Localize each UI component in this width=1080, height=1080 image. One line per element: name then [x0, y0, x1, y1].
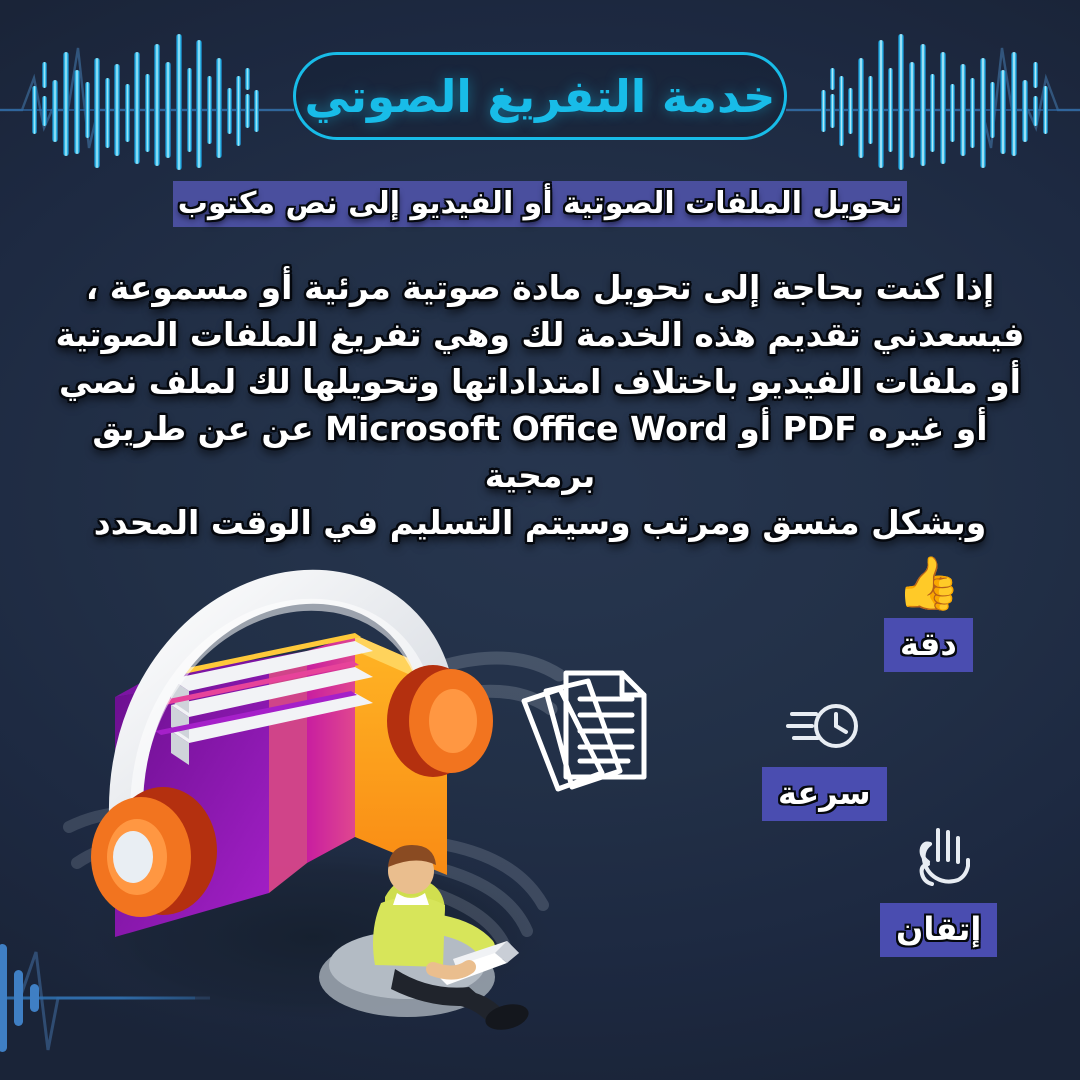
subtitle-banner: تحويل الملفات الصوتية أو الفيديو إلى نص …: [173, 181, 907, 227]
format-word-label: Microsoft Office Word: [325, 409, 728, 448]
feature-speed: سرعة: [762, 700, 887, 821]
audio-waveform-icon: [786, 18, 1080, 188]
body-line-4-part-b: أو: [728, 409, 783, 448]
body-paragraph: إذا كنت بحاجة إلى تحويل مادة صوتية مرئية…: [50, 264, 1030, 546]
feature-accuracy: 👍 دقة: [884, 558, 973, 672]
feature-speed-label: سرعة: [762, 767, 887, 821]
audio-waveform-icon: [0, 18, 294, 188]
subtitle-text: تحويل الملفات الصوتية أو الفيديو إلى نص …: [178, 189, 902, 219]
body-line-4: أو غيره PDF أو Microsoft Office Word عن …: [50, 405, 1030, 499]
body-line-3: أو ملفات الفيديو باختلاف امتداداتها وتحو…: [50, 358, 1030, 405]
documents-stack-icon: [510, 655, 660, 819]
body-line-1: إذا كنت بحاجة إلى تحويل مادة صوتية مرئية…: [50, 264, 1030, 311]
title-pill: خدمة التفريغ الصوتي: [293, 52, 787, 140]
format-pdf-label: PDF: [783, 409, 857, 448]
body-line-5: وبشكل منسق ومرتب وسيتم التسليم في الوقت …: [50, 499, 1030, 546]
body-line-4-part-a: أو غيره: [857, 409, 988, 448]
speed-clock-icon: [786, 700, 862, 759]
body-line-2: فيسعدني تقديم هذه الخدمة لك وهي تفريغ ال…: [50, 311, 1030, 358]
headphones-books-person-illustration: [55, 545, 575, 1035]
poster-root: خدمة التفريغ الصوتي تحويل الملفات الصوتي…: [0, 0, 1080, 1080]
page-title: خدمة التفريغ الصوتي: [305, 74, 776, 119]
feature-mastery: إتقان: [880, 820, 997, 957]
thumbs-up-icon: 👍: [896, 558, 961, 610]
feature-mastery-label: إتقان: [880, 903, 997, 957]
feature-accuracy-label: دقة: [884, 618, 973, 672]
ok-hand-icon: [908, 820, 970, 895]
